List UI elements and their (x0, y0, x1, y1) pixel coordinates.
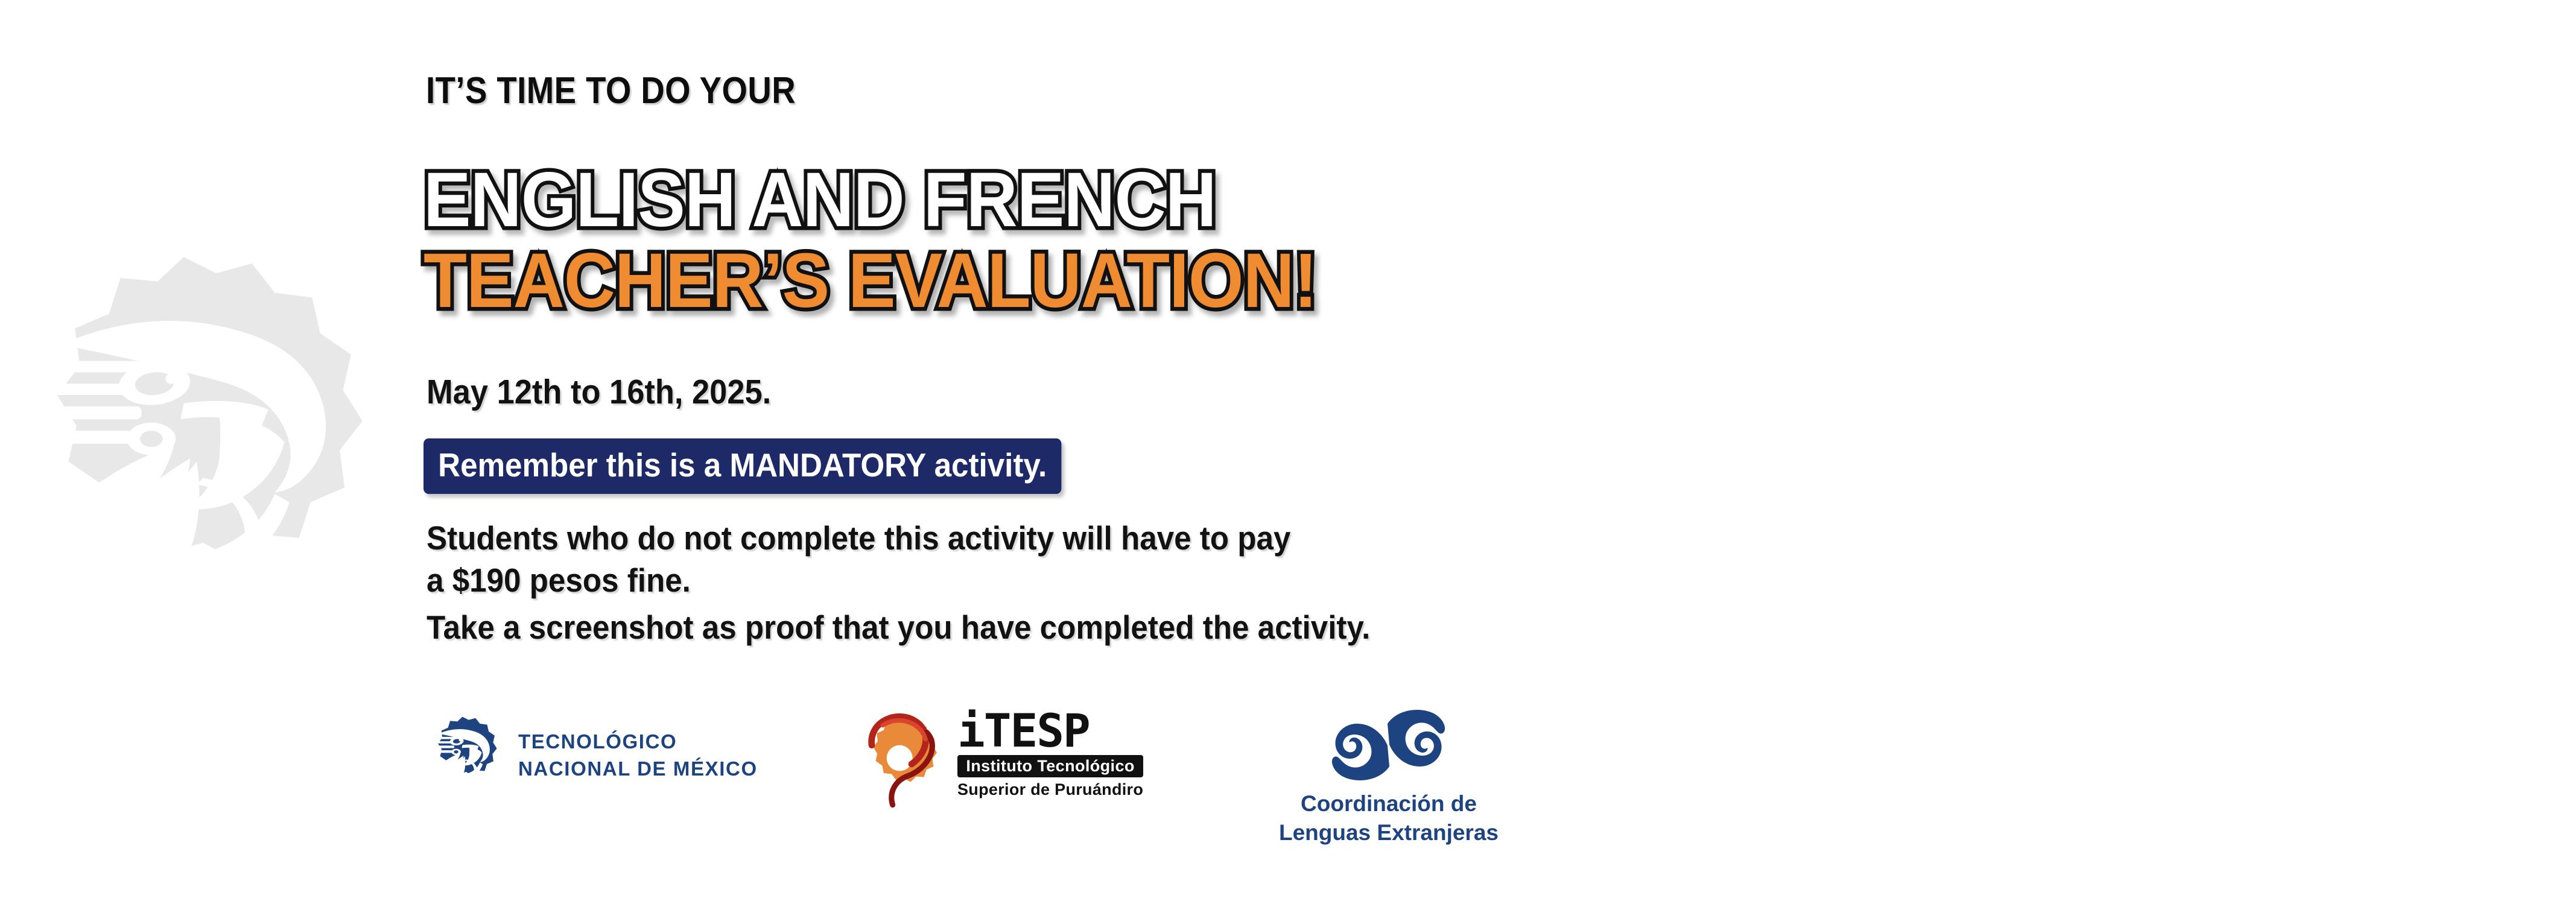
cle-line-1: Coordinación de (1279, 789, 1499, 818)
body-line-1: Students who do not complete this activi… (427, 519, 1290, 557)
itesp-acronym: iTESP (957, 709, 1143, 753)
itesp-flame-gear-icon (852, 698, 951, 810)
tecnm-line-2: NACIONAL DE MÉXICO (518, 756, 758, 783)
itesp-bar-text: Instituto Tecnológico (957, 755, 1143, 777)
headline-line-2: TEACHER’S EVALUATION! (424, 236, 1317, 325)
logo-row: TECNOLÓGICO NACIONAL DE MÉXICO (416, 700, 1635, 886)
wave-swirl-icon (1327, 704, 1450, 786)
date-range: May 12th to 16th, 2025. (427, 372, 771, 412)
logo-tecnm: TECNOLÓGICO NACIONAL DE MÉXICO (422, 710, 758, 801)
cle-wordmark: Coordinación de Lenguas Extranjeras (1279, 789, 1499, 847)
itesp-sub-text: Superior de Puruándiro (957, 780, 1143, 799)
tecnm-line-1: TECNOLÓGICO (518, 728, 758, 756)
headline-line-1: ENGLISH AND FRENCH (424, 156, 1216, 244)
logo-coordinacion-lenguas: Coordinación de Lenguas Extranjeras (1279, 704, 1499, 847)
itesp-wordmark: iTESP Instituto Tecnológico Superior de … (957, 709, 1143, 799)
tecnm-watermark-icon (0, 12, 398, 905)
tecnm-wordmark: TECNOLÓGICO NACIONAL DE MÉXICO (518, 728, 758, 782)
eyebrow-text: IT’S TIME TO DO YOUR (426, 69, 796, 112)
body-line-3: Take a screenshot as proof that you have… (427, 608, 1370, 646)
body-line-2: a $190 pesos fine. (427, 561, 691, 599)
status-badge: Remember this is a MANDATORY activity. (424, 438, 1061, 494)
aztec-head-gear-icon (422, 710, 504, 801)
logo-itesp: iTESP Instituto Tecnológico Superior de … (852, 698, 1143, 810)
promo-banner: V V V V (0, 0, 2576, 907)
cle-line-2: Lenguas Extranjeras (1279, 818, 1499, 847)
